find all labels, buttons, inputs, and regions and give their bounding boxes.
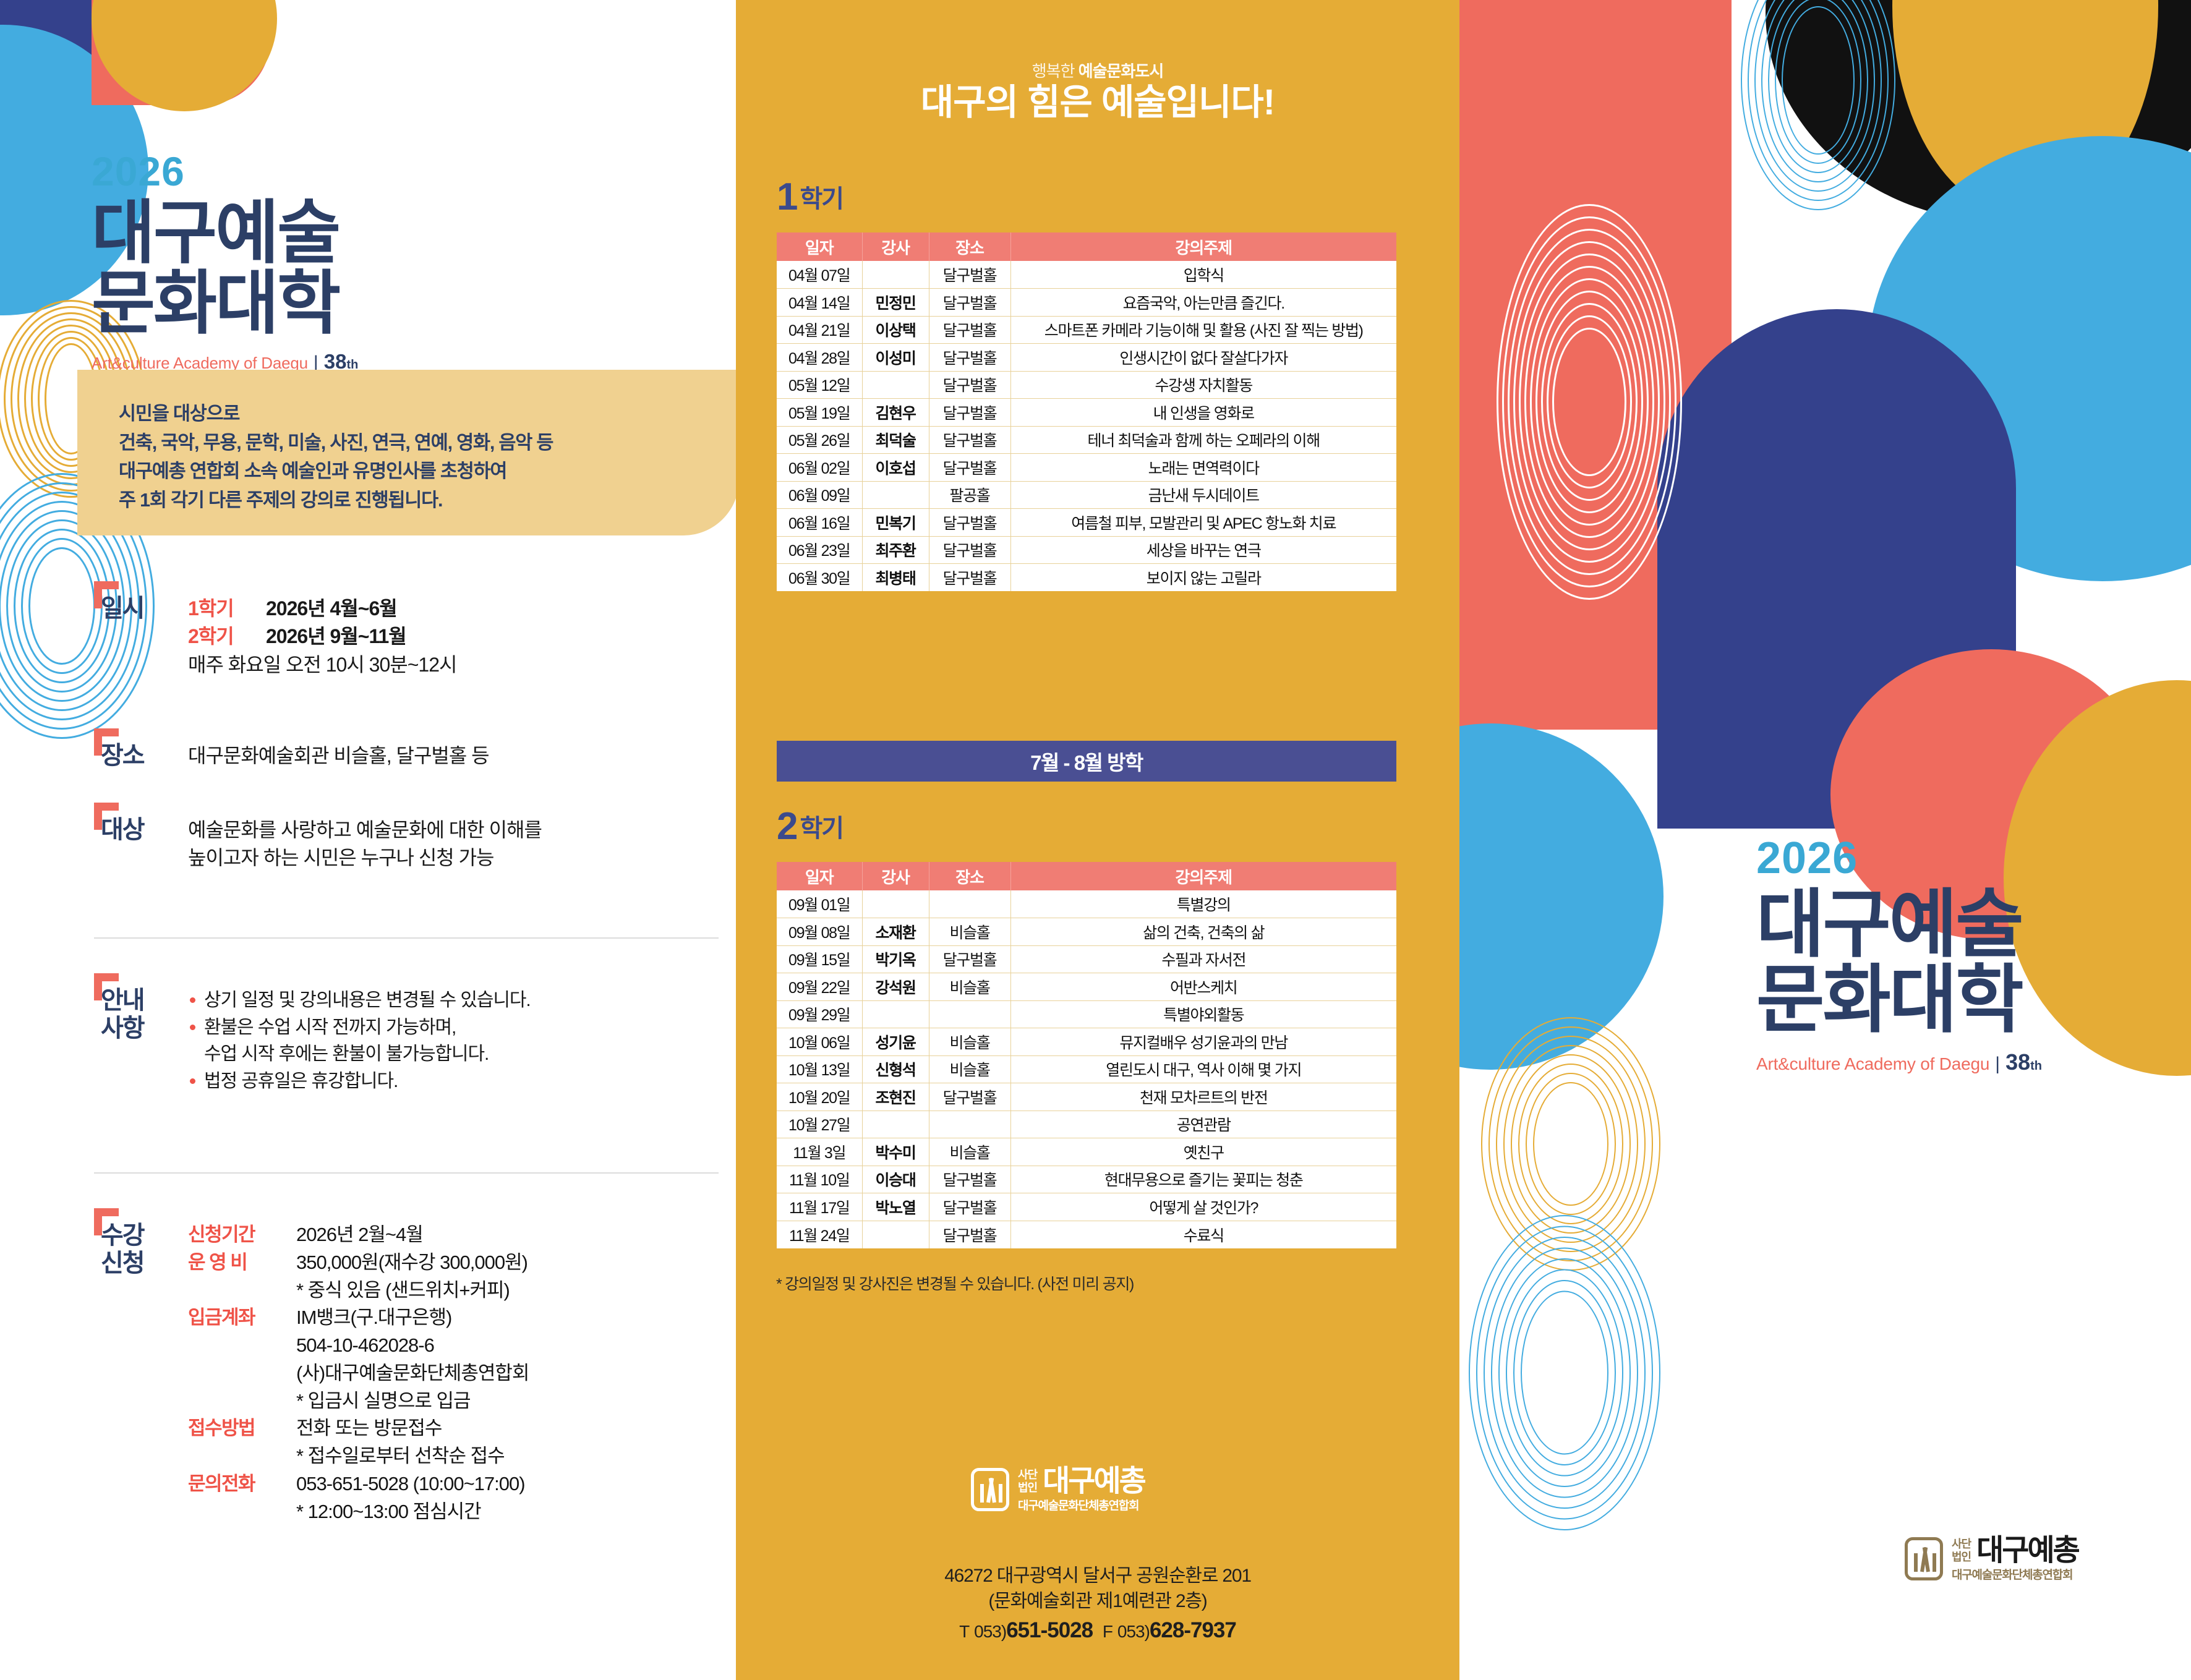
apply-key: 운 영 비 xyxy=(188,1250,296,1276)
cell-place: 달구벌홀 xyxy=(929,261,1010,289)
cell-date: 10월 06일 xyxy=(777,1028,862,1056)
cell-lecturer: 박기옥 xyxy=(862,945,929,973)
cell-topic: 뮤지컬배우 성기윤과의 만남 xyxy=(1010,1028,1396,1056)
cell-place: 달구벌홀 xyxy=(929,426,1010,454)
cell-topic: 스마트폰 카메라 기능이해 및 활용 (사진 잘 찍는 방법) xyxy=(1010,316,1396,344)
brand-year: 2026 xyxy=(1756,836,2042,881)
list-item: 상기 일정 및 강의내용은 변경될 수 있습니다. xyxy=(188,987,531,1014)
org-mark-icon xyxy=(1905,1537,1943,1580)
apply-value: * 12:00~13:00 점심시간 xyxy=(296,1499,529,1525)
cell-date: 10월 27일 xyxy=(777,1111,862,1138)
cell-lecturer: 신형석 xyxy=(862,1055,929,1083)
cell-topic: 어반스케치 xyxy=(1010,973,1396,1001)
apply-value: * 중식 있음 (샌드위치+커피) xyxy=(296,1277,529,1304)
cell-date: 04월 14일 xyxy=(777,289,862,317)
apply-value: 053-651-5028 (10:00~17:00) xyxy=(296,1471,529,1498)
table-row: 10월 20일조현진달구벌홀천재 모차르트의 반전 xyxy=(777,1083,1396,1111)
table-row: 09월 01일특별강의 xyxy=(777,890,1396,918)
cell-date: 10월 20일 xyxy=(777,1083,862,1111)
info-target-label: 대상 xyxy=(94,816,188,844)
brand-title-line2: 문화대학 xyxy=(1756,962,2042,1038)
deco-circle-yellow-topmid xyxy=(92,0,277,111)
cell-date: 05월 26일 xyxy=(777,426,862,454)
table-row: 11월 17일박노열달구벌홀어떻게 살 것인가? xyxy=(777,1193,1396,1221)
sem1-value: 2026년 4월~6월 xyxy=(266,595,397,623)
cell-topic: 인생시간이 없다 잘살다가자 xyxy=(1010,344,1396,372)
brand-title: 대구예술 문화대학 xyxy=(1756,887,2042,1038)
table-row: 06월 02일이호섭달구벌홀노래는 면역력이다 xyxy=(777,454,1396,482)
org-mark-icon xyxy=(971,1468,1009,1511)
info-place: 장소 대구문화예술회관 비슬홀, 달구벌홀 등 xyxy=(94,742,489,770)
cell-date: 11월 10일 xyxy=(777,1166,862,1193)
table-row: 04월 21일이상택달구벌홀스마트폰 카메라 기능이해 및 활용 (사진 잘 찍… xyxy=(777,316,1396,344)
brand-title: 대구예술 문화대학 xyxy=(92,198,358,339)
cell-topic: 내 인생을 영화로 xyxy=(1010,399,1396,427)
apply-key xyxy=(188,1388,296,1415)
brand-divider: | xyxy=(1995,1054,2000,1075)
cell-lecturer: 이성미 xyxy=(862,344,929,372)
cell-topic: 현대무용으로 즐기는 꽃피는 청춘 xyxy=(1010,1166,1396,1193)
cell-topic: 요즘국악, 아는만큼 즐긴다. xyxy=(1010,289,1396,317)
cell-place: 달구벌홀 xyxy=(929,1193,1010,1221)
info-notice: 안내 사항 상기 일정 및 강의내용은 변경될 수 있습니다. 환불은 수업 시… xyxy=(94,987,531,1094)
cell-place: 팔공홀 xyxy=(929,481,1010,509)
weekly-schedule: 매주 화요일 오전 10시 30분~12시 xyxy=(188,651,456,679)
list-item: 수업 시작 후에는 환불이 불가능합니다. xyxy=(188,1041,531,1068)
deco-rings-yellow-lowerleft xyxy=(1478,1014,1664,1274)
col-header-topic: 강의주제 xyxy=(1010,232,1396,261)
cell-place: 달구벌홀 xyxy=(929,945,1010,973)
sem2-key: 2학기 xyxy=(188,623,255,650)
col-header-date: 일자 xyxy=(777,232,862,261)
cell-date: 09월 15일 xyxy=(777,945,862,973)
tel-label: T xyxy=(959,1622,969,1641)
cell-lecturer xyxy=(862,1000,929,1028)
cell-topic: 여름철 피부, 모발관리 및 APEC 항노화 치료 xyxy=(1010,509,1396,537)
divider-1 xyxy=(94,937,719,939)
cell-topic: 천재 모차르트의 반전 xyxy=(1010,1083,1396,1111)
cell-lecturer: 강석원 xyxy=(862,973,929,1001)
info-notice-label: 안내 사항 xyxy=(94,987,188,1043)
notice-list: 상기 일정 및 강의내용은 변경될 수 있습니다. 환불은 수업 시작 전까지 … xyxy=(188,987,531,1094)
cell-topic: 수강생 자치활동 xyxy=(1010,371,1396,399)
cell-topic: 어떻게 살 것인가? xyxy=(1010,1193,1396,1221)
table-row: 04월 07일달구벌홀입학식 xyxy=(777,261,1396,289)
apply-value: 350,000원(재수강 300,000원) xyxy=(296,1250,529,1276)
vacation-banner: 7월 - 8월 방학 xyxy=(777,741,1396,782)
table-row: 11월 24일달구벌홀수료식 xyxy=(777,1221,1396,1248)
semester1-table: 일자 강사 장소 강의주제 04월 07일달구벌홀입학식04월 14일민정민달구… xyxy=(777,232,1396,591)
list-item: 법정 공휴일은 휴강합니다. xyxy=(188,1068,531,1095)
semester2-heading: 2 학기 xyxy=(777,809,843,844)
table-row: 10월 27일공연관람 xyxy=(777,1111,1396,1138)
table-row: 06월 23일최주환달구벌홀세상을 바꾸는 연극 xyxy=(777,536,1396,564)
divider-2 xyxy=(94,1172,719,1174)
brand-english: Art&culture Academy of Daegu xyxy=(1756,1054,1989,1074)
info-target: 대상 예술문화를 사랑하고 예술문화에 대한 이해를 높이고자 하는 시민은 누… xyxy=(94,816,542,872)
brand-edition: 38th xyxy=(2005,1049,2042,1075)
tel-area: 053) xyxy=(974,1622,1006,1641)
cell-place: 달구벌홀 xyxy=(929,454,1010,482)
tel-number: 651-5028 xyxy=(1006,1618,1093,1642)
table-header-row: 일자 강사 장소 강의주제 xyxy=(777,232,1396,261)
table-row: 09월 29일특별야외활동 xyxy=(777,1000,1396,1028)
cell-topic: 특별야외활동 xyxy=(1010,1000,1396,1028)
org-logo-right: 사단법인 대구예총 대구예술문화단체총연합회 xyxy=(1905,1536,2078,1581)
cell-place: 달구벌홀 xyxy=(929,289,1010,317)
col-header-lecturer: 강사 xyxy=(862,862,929,890)
cell-place: 비슬홀 xyxy=(929,973,1010,1001)
cell-topic: 입학식 xyxy=(1010,261,1396,289)
cell-lecturer: 이호섭 xyxy=(862,454,929,482)
info-datetime-label: 일시 xyxy=(94,595,188,623)
intro-box: 시민을 대상으로 건축, 국악, 무용, 문학, 미술, 사진, 연극, 연예,… xyxy=(77,370,736,535)
cell-date: 06월 16일 xyxy=(777,509,862,537)
table-row: 11월 3일박수미비슬홀옛친구 xyxy=(777,1138,1396,1166)
apply-key xyxy=(188,1443,296,1470)
cell-date: 11월 24일 xyxy=(777,1221,862,1248)
deco-circle-skyblue-lower xyxy=(1459,723,1664,1070)
semester1-label: 학기 xyxy=(800,184,843,215)
table-row: 09월 15일박기옥달구벌홀수필과 자서전 xyxy=(777,945,1396,973)
cell-date: 05월 12일 xyxy=(777,371,862,399)
intro-line-2: 건축, 국악, 무용, 문학, 미술, 사진, 연극, 연예, 영화, 음악 등 xyxy=(119,429,736,458)
table-row: 06월 16일민복기달구벌홀여름철 피부, 모발관리 및 APEC 항노화 치료 xyxy=(777,509,1396,537)
col-header-topic: 강의주제 xyxy=(1010,862,1396,890)
cell-topic: 특별강의 xyxy=(1010,890,1396,918)
cell-date: 06월 30일 xyxy=(777,564,862,592)
cell-place: 달구벌홀 xyxy=(929,1221,1010,1248)
cell-topic: 삶의 건축, 건축의 삶 xyxy=(1010,918,1396,946)
schedule-note: * 강의일정 및 강사진은 변경될 수 있습니다. (사전 미리 공지) xyxy=(776,1272,1134,1294)
cell-place: 달구벌홀 xyxy=(929,399,1010,427)
cell-place: 달구벌홀 xyxy=(929,564,1010,592)
cell-lecturer: 박노열 xyxy=(862,1193,929,1221)
cell-topic: 세상을 바꾸는 연극 xyxy=(1010,536,1396,564)
cell-date: 06월 09일 xyxy=(777,481,862,509)
cell-date: 05월 19일 xyxy=(777,399,862,427)
org-legal-prefix: 사단법인 xyxy=(1952,1538,1971,1564)
cell-topic: 수필과 자서전 xyxy=(1010,945,1396,973)
intro-line-1: 시민을 대상으로 xyxy=(119,399,736,429)
left-panel: 2026 대구예술 문화대학 Art&culture Academy of Da… xyxy=(0,0,736,1680)
cell-lecturer: 성기윤 xyxy=(862,1028,929,1056)
cell-lecturer: 이승대 xyxy=(862,1166,929,1193)
cell-lecturer: 김현우 xyxy=(862,399,929,427)
cell-lecturer xyxy=(862,890,929,918)
deco-rings-blue-lowerleft xyxy=(1466,1212,1664,1533)
cell-topic: 옛친구 xyxy=(1010,1138,1396,1166)
cell-place: 달구벌홀 xyxy=(929,509,1010,537)
cell-place: 달구벌홀 xyxy=(929,536,1010,564)
brand-left: 2026 대구예술 문화대학 Art&culture Academy of Da… xyxy=(92,151,358,373)
apply-key xyxy=(188,1499,296,1525)
semester2-number: 2 xyxy=(777,809,798,844)
cell-lecturer: 소재환 xyxy=(862,918,929,946)
org-fullname: 대구예술문화단체총연합회 xyxy=(1018,1500,1145,1512)
cell-place: 비슬홀 xyxy=(929,918,1010,946)
col-header-lecturer: 강사 xyxy=(862,232,929,261)
cell-lecturer: 박수미 xyxy=(862,1138,929,1166)
info-datetime-values: 1학기2026년 4월~6월 2학기2026년 9월~11월 매주 화요일 오전… xyxy=(188,595,456,679)
apply-key xyxy=(188,1332,296,1359)
info-place-label: 장소 xyxy=(94,742,188,770)
cell-lecturer xyxy=(862,1221,929,1248)
deco-shape-indigo-mid xyxy=(1657,309,2016,829)
address-line-2: (문화예술회관 제1예련관 2층) xyxy=(736,1588,1459,1614)
info-apply: 수강 신청 신청기간 2026년 2월~4월 운 영 비 350,000원(재수… xyxy=(94,1222,529,1525)
sem2-value: 2026년 9월~11월 xyxy=(266,623,406,650)
deco-rings-blue-topmid xyxy=(1741,0,1895,210)
cell-lecturer: 민정민 xyxy=(862,289,929,317)
cell-place: 비슬홀 xyxy=(929,1055,1010,1083)
cell-topic: 열린도시 대구, 역사 이해 몇 가지 xyxy=(1010,1055,1396,1083)
deco-circle-black-top xyxy=(1766,0,2191,223)
cell-topic: 공연관람 xyxy=(1010,1111,1396,1138)
cell-topic: 보이지 않는 고릴라 xyxy=(1010,564,1396,592)
cell-topic: 테너 최덕술과 함께 하는 오페라의 이해 xyxy=(1010,426,1396,454)
deco-circle-skyblue-right xyxy=(1868,136,2191,581)
cell-lecturer: 최병태 xyxy=(862,564,929,592)
org-legal-prefix: 사단법인 xyxy=(1018,1469,1037,1495)
info-datetime: 일시 1학기2026년 4월~6월 2학기2026년 9월~11월 매주 화요일… xyxy=(94,595,456,679)
cell-date: 10월 13일 xyxy=(777,1055,862,1083)
table-row: 05월 12일달구벌홀수강생 자치활동 xyxy=(777,371,1396,399)
cell-lecturer: 최덕술 xyxy=(862,426,929,454)
cell-date: 11월 17일 xyxy=(777,1193,862,1221)
cell-place xyxy=(929,1111,1010,1138)
apply-value: IM뱅크(구.대구은행) xyxy=(296,1305,529,1331)
cell-place: 달구벌홀 xyxy=(929,1166,1010,1193)
brand-title-line1: 대구예술 xyxy=(1756,887,2042,962)
cell-place xyxy=(929,1000,1010,1028)
sem1-key: 1학기 xyxy=(188,595,255,623)
col-header-date: 일자 xyxy=(777,862,862,890)
apply-value: * 접수일로부터 선착순 접수 xyxy=(296,1443,529,1470)
deco-circle-red-topleft xyxy=(0,0,155,105)
cell-date: 04월 21일 xyxy=(777,316,862,344)
apply-value: 504-10-462028-6 xyxy=(296,1332,529,1359)
intro-line-3: 대구예총 연합회 소속 예술인과 유명인사를 초청하여 xyxy=(119,457,736,486)
slogan-block: 행복한 예술문화도시 대구의 힘은 예술입니다! xyxy=(736,59,1459,122)
apply-key xyxy=(188,1360,296,1387)
apply-value: 2026년 2월~4월 xyxy=(296,1222,529,1248)
brand-year: 2026 xyxy=(92,151,358,192)
org-fullname: 대구예술문화단체총연합회 xyxy=(1952,1569,2078,1581)
apply-grid: 신청기간 2026년 2월~4월 운 영 비 350,000원(재수강 300,… xyxy=(188,1222,529,1525)
cell-topic: 수료식 xyxy=(1010,1221,1396,1248)
info-apply-label: 수강 신청 xyxy=(94,1222,188,1277)
cell-date: 09월 08일 xyxy=(777,918,862,946)
org-name: 대구예총 xyxy=(1976,1536,2078,1566)
table-row: 09월 08일소재환비슬홀삶의 건축, 건축의 삶 xyxy=(777,918,1396,946)
apply-key: 접수방법 xyxy=(188,1415,296,1442)
slogan-big: 대구의 힘은 예술입니다! xyxy=(736,83,1459,122)
table-row: 10월 13일신형석비슬홀열린도시 대구, 역사 이해 몇 가지 xyxy=(777,1055,1396,1083)
deco-rings-white-topleft xyxy=(1497,204,1682,600)
cell-lecturer: 조현진 xyxy=(862,1083,929,1111)
table-header-row: 일자 강사 장소 강의주제 xyxy=(777,862,1396,890)
cell-place xyxy=(929,890,1010,918)
cell-lecturer xyxy=(862,481,929,509)
apply-key: 신청기간 xyxy=(188,1222,296,1248)
deco-shape-red-topmid xyxy=(92,0,271,105)
info-target-values: 예술문화를 사랑하고 예술문화에 대한 이해를 높이고자 하는 시민은 누구나 … xyxy=(188,816,542,872)
cell-place: 달구벌홀 xyxy=(929,344,1010,372)
table-row: 11월 10일이승대달구벌홀현대무용으로 즐기는 꽃피는 청춘 xyxy=(777,1166,1396,1193)
table-row: 10월 06일성기윤비슬홀뮤지컬배우 성기윤과의 만남 xyxy=(777,1028,1396,1056)
cell-date: 04월 28일 xyxy=(777,344,862,372)
semester2-body: 09월 01일특별강의09월 08일소재환비슬홀삶의 건축, 건축의 삶09월 … xyxy=(777,890,1396,1248)
semester1-number: 1 xyxy=(777,179,798,215)
deco-shape-indigo-topleft xyxy=(0,0,223,121)
table-row: 09월 22일강석원비슬홀어반스케치 xyxy=(777,973,1396,1001)
apply-value: 전화 또는 방문접수 xyxy=(296,1415,529,1442)
cell-place: 달구벌홀 xyxy=(929,316,1010,344)
cell-date: 04월 07일 xyxy=(777,261,862,289)
cell-date: 09월 01일 xyxy=(777,890,862,918)
footer-address: 46272 대구광역시 달서구 공원순환로 201 (문화예술회관 제1예련관 … xyxy=(736,1563,1459,1643)
table-row: 04월 14일민정민달구벌홀요즘국악, 아는만큼 즐긴다. xyxy=(777,289,1396,317)
cell-topic: 금난새 두시데이트 xyxy=(1010,481,1396,509)
table-row: 06월 09일팔공홀금난새 두시데이트 xyxy=(777,481,1396,509)
col-header-place: 장소 xyxy=(929,232,1010,261)
table-row: 05월 26일최덕술달구벌홀테너 최덕술과 함께 하는 오페라의 이해 xyxy=(777,426,1396,454)
org-name: 대구예총 xyxy=(1043,1467,1145,1496)
address-line-1: 46272 대구광역시 달서구 공원순환로 201 xyxy=(736,1563,1459,1588)
apply-key: 문의전화 xyxy=(188,1471,296,1498)
cell-lecturer: 민복기 xyxy=(862,509,929,537)
apply-value: (사)대구예술문화단체총연합회 xyxy=(296,1360,529,1387)
cell-place: 달구벌홀 xyxy=(929,371,1010,399)
cell-lecturer xyxy=(862,1111,929,1138)
brand-title-line2: 문화대학 xyxy=(92,268,358,339)
info-target-line2: 높이고자 하는 시민은 누구나 신청 가능 xyxy=(188,844,542,872)
semester2-table: 일자 강사 장소 강의주제 09월 01일특별강의09월 08일소재환비슬홀삶의… xyxy=(777,862,1396,1248)
cell-lecturer: 이상택 xyxy=(862,316,929,344)
fax-number: 628-7937 xyxy=(1150,1618,1236,1642)
col-header-place: 장소 xyxy=(929,862,1010,890)
brand-title-line1: 대구예술 xyxy=(92,198,358,268)
cell-topic: 노래는 면역력이다 xyxy=(1010,454,1396,482)
apply-key xyxy=(188,1277,296,1304)
cell-place: 비슬홀 xyxy=(929,1138,1010,1166)
fax-label: F xyxy=(1103,1622,1113,1641)
cell-date: 06월 23일 xyxy=(777,536,862,564)
intro-line-4: 주 1회 각기 다른 주제의 강의로 진행됩니다. xyxy=(119,486,736,515)
cell-date: 11월 3일 xyxy=(777,1138,862,1166)
org-logo-center: 사단법인 대구예총 대구예술문화단체총연합회 xyxy=(971,1467,1145,1512)
table-row: 05월 19일김현우달구벌홀내 인생을 영화로 xyxy=(777,399,1396,427)
semester1-body: 04월 07일달구벌홀입학식04월 14일민정민달구벌홀요즘국악, 아는만큼 즐… xyxy=(777,261,1396,591)
semester1-heading: 1 학기 xyxy=(777,179,843,215)
contact-line: T 053)651-5028 F 053)628-7937 xyxy=(736,1618,1459,1643)
cell-place: 달구벌홀 xyxy=(929,1083,1010,1111)
cell-lecturer xyxy=(862,371,929,399)
fax-area: 053) xyxy=(1117,1622,1150,1641)
brand-english-row: Art&culture Academy of Daegu | 38th xyxy=(1756,1049,2042,1075)
info-place-value: 대구문화예술회관 비슬홀, 달구벌홀 등 xyxy=(188,742,489,770)
deco-shape-red-left-column xyxy=(1459,0,1732,730)
cell-date: 09월 22일 xyxy=(777,973,862,1001)
brand-right: 2026 대구예술 문화대학 Art&culture Academy of Da… xyxy=(1756,836,2042,1075)
slogan-small: 행복한 예술문화도시 xyxy=(736,59,1459,82)
info-target-line1: 예술문화를 사랑하고 예술문화에 대한 이해를 xyxy=(188,816,542,844)
apply-value: * 입금시 실명으로 입금 xyxy=(296,1388,529,1415)
deco-circle-yellow-top xyxy=(1892,0,2158,216)
apply-key: 입금계좌 xyxy=(188,1305,296,1331)
table-row: 06월 30일최병태달구벌홀보이지 않는 고릴라 xyxy=(777,564,1396,592)
cell-lecturer xyxy=(862,261,929,289)
table-row: 04월 28일이성미달구벌홀인생시간이 없다 잘살다가자 xyxy=(777,344,1396,372)
list-item: 환불은 수업 시작 전까지 가능하며, xyxy=(188,1014,531,1041)
cell-date: 06월 02일 xyxy=(777,454,862,482)
center-panel: 행복한 예술문화도시 대구의 힘은 예술입니다! 1 학기 일자 강사 장소 강… xyxy=(736,0,1459,1680)
cell-place: 비슬홀 xyxy=(929,1028,1010,1056)
semester2-label: 학기 xyxy=(800,813,843,844)
cell-lecturer: 최주환 xyxy=(862,536,929,564)
cell-date: 09월 29일 xyxy=(777,1000,862,1028)
